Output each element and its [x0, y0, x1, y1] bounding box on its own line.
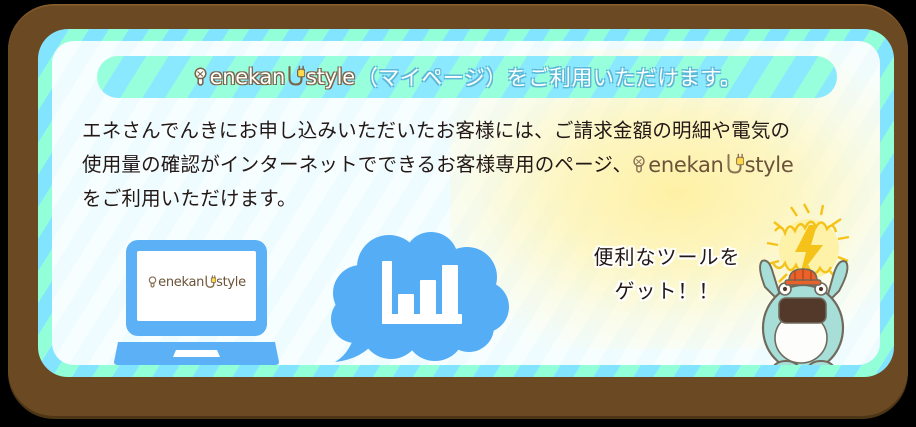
plug-cord-icon: [286, 65, 305, 89]
logo-word-enekan: enekan: [158, 275, 204, 290]
promo-line-2: ゲット！！: [572, 275, 762, 309]
page-title: enekan style （マイページ）をご利用いただけます。: [193, 62, 742, 92]
plug-cord-icon: [725, 153, 744, 177]
plug-cord-icon: [204, 275, 216, 290]
mascot-mouth: [779, 298, 826, 323]
lightbulb-icon: [632, 155, 646, 175]
promo-line-1: 便利なツールを: [572, 241, 762, 275]
page-title-suffix: （マイページ）をご利用いただけます。: [357, 62, 741, 92]
inline-enekan-style-logo: enekan style: [632, 148, 793, 182]
header-enekan-style-logo: enekan style: [193, 65, 355, 89]
body-line-1: エネさんでんきにお申し込みいただいたお客様には、ご請求金額の明細や電気の: [82, 114, 842, 148]
logo-word-style: style: [306, 65, 355, 89]
body-line-2: 使用量の確認がインターネットでできるお客様専用のページ、 enekan: [82, 148, 842, 182]
content-panel: enekan style （マイページ）をご利用いただけます。 エネさんでんきに…: [52, 41, 880, 365]
logo-word-style: style: [216, 275, 246, 290]
outer-frame: enekan style （マイページ）をご利用いただけます。 エネさんでんきに…: [8, 4, 908, 416]
promo-text: 便利なツールを ゲット！！: [572, 241, 762, 309]
header-banner: enekan style （マイページ）をご利用いただけます。: [97, 56, 837, 98]
laptop-screen-logo: enekan style: [147, 275, 247, 290]
laptop-illustration: enekan style: [114, 238, 279, 365]
body-paragraph: エネさんでんきにお申し込みいただいたお客様には、ご請求金額の明細や電気の 使用量…: [82, 114, 842, 216]
logo-word-enekan: enekan: [648, 148, 723, 182]
body-line-3: をご利用いただけます。: [82, 182, 842, 216]
logo-word-style: style: [745, 148, 794, 182]
logo-word-enekan: enekan: [210, 65, 285, 89]
lightbulb-icon: [193, 67, 208, 88]
enekan-mascot-character: [735, 201, 870, 365]
body-line-2-text: 使用量の確認がインターネットでできるお客様専用のページ、: [82, 148, 632, 182]
cloud-speech-bubble: [327, 231, 517, 365]
lightbulb-icon: [148, 276, 157, 289]
